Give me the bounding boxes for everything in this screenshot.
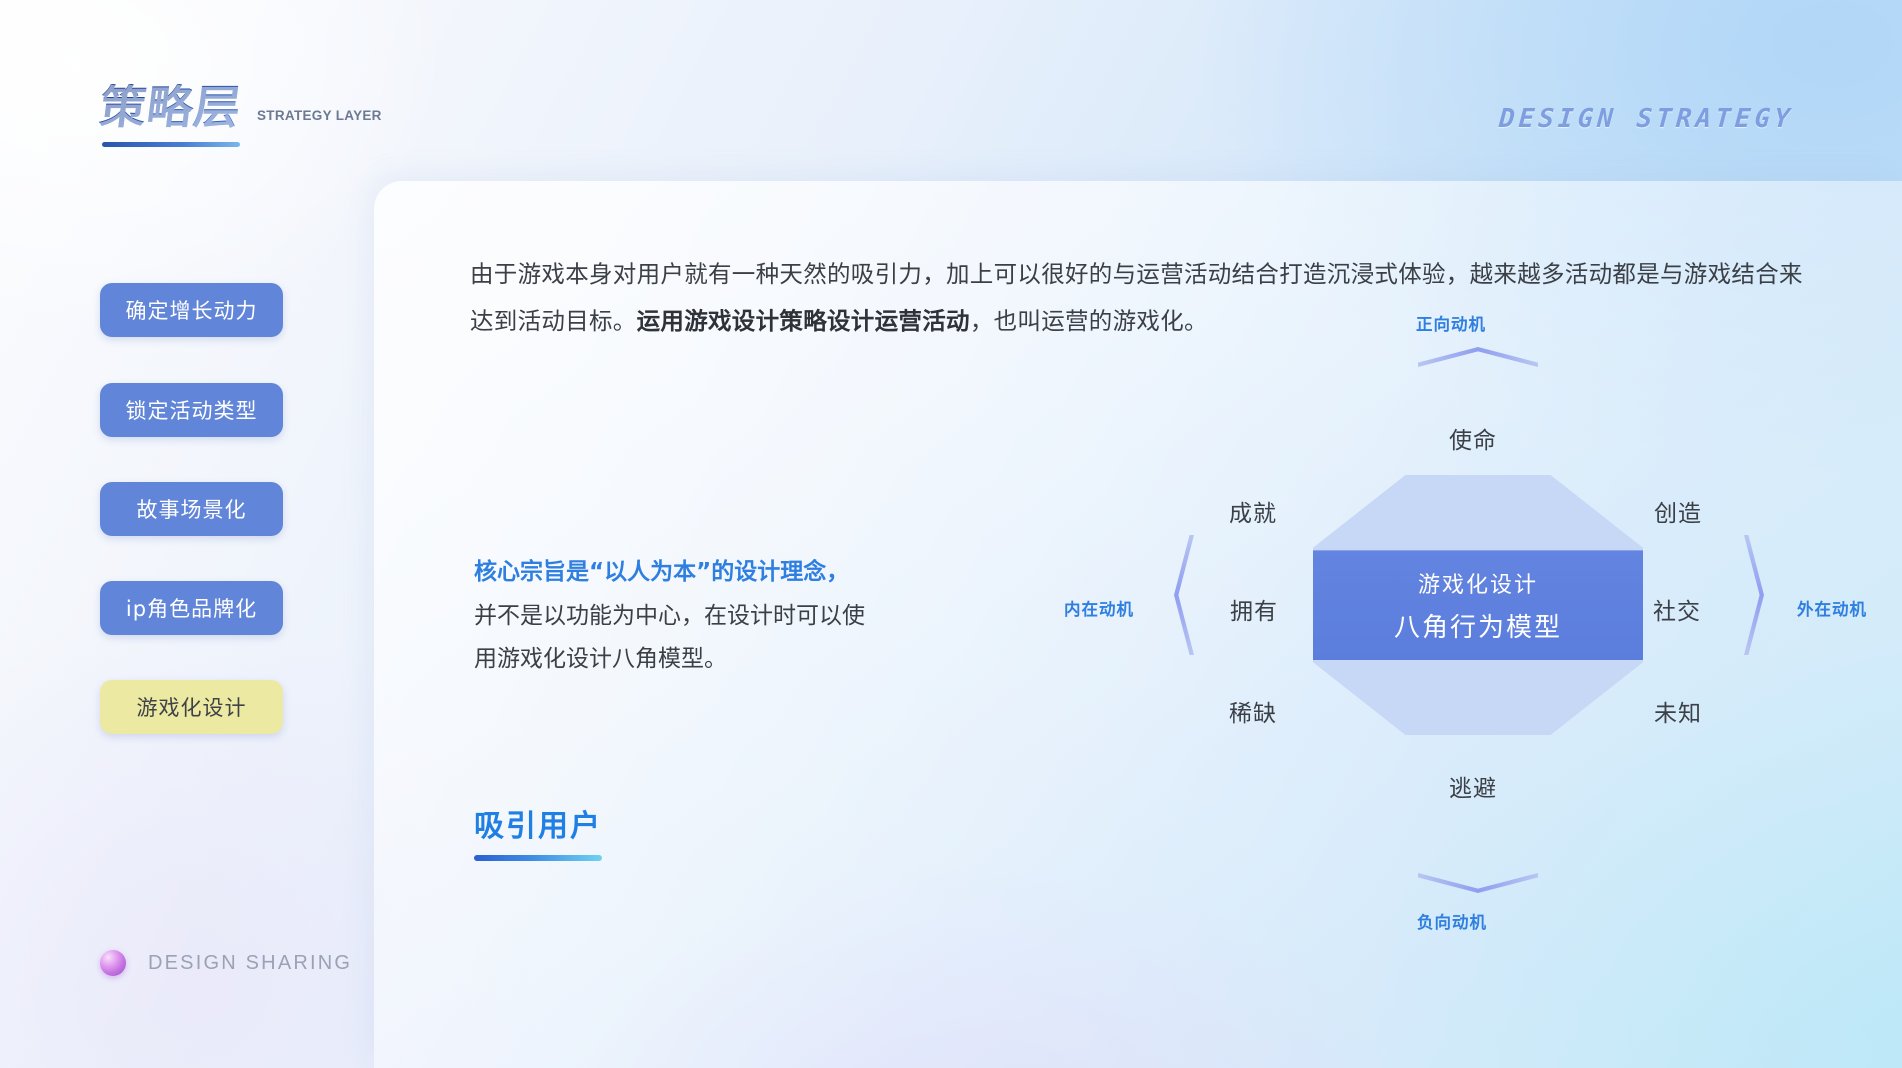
chevron-up-icon [1418, 347, 1538, 367]
logo-title-cn: 策略层 [97, 84, 244, 132]
node-scarcity: 稀缺 [1229, 694, 1277, 728]
page-header: 策略层 STRATEGY LAYER DESIGN STRATEGY [0, 0, 1902, 180]
node-unknown: 未知 [1654, 694, 1702, 728]
sidebar-item-label: 游戏化设计 [137, 692, 247, 722]
lead-paragraph: 核心宗旨是“以人为本”的设计理念， 并不是以功能为中心，在设计时可以使 用游戏化… [474, 551, 994, 682]
chevron-left-icon [1174, 535, 1194, 655]
content-card: 由于游戏本身对用户就有一种天然的吸引力，加上可以很好的与运营活动结合打造沉浸式体… [374, 181, 1902, 1068]
node-ownership: 拥有 [1230, 592, 1278, 626]
header-right-title: DESIGN STRATEGY [1498, 104, 1795, 134]
design-sharing-label: DESIGN SHARING [148, 952, 352, 975]
node-creation: 创造 [1654, 494, 1702, 528]
section-title: 吸引用户 [474, 801, 602, 845]
sidebar: 确定增长动力 锁定活动类型 故事场景化 ip角色品牌化 游戏化设计 DESIGN… [0, 180, 375, 1068]
sidebar-item-gamification[interactable]: 游戏化设计 [100, 680, 283, 734]
sidebar-item-story-scene[interactable]: 故事场景化 [100, 482, 283, 536]
node-avoidance: 逃避 [1449, 769, 1497, 803]
node-achievement: 成就 [1229, 494, 1277, 528]
sidebar-item-label: 锁定活动类型 [126, 395, 258, 425]
intro-text-bold: 运用游戏设计策略设计运营活动 [637, 307, 970, 335]
axis-label-positive: 正向动机 [1416, 311, 1486, 335]
logo-subtitle-en: STRATEGY LAYER [257, 108, 382, 132]
axis-label-intrinsic: 内在动机 [1064, 596, 1134, 620]
lead-line-2: 并不是以功能为中心，在设计时可以使 [474, 595, 994, 639]
chevron-right-icon [1744, 535, 1764, 655]
center-label-line-1: 游戏化设计 [1418, 567, 1538, 599]
logo-underline [102, 142, 240, 147]
node-mission: 使命 [1449, 421, 1497, 455]
sphere-icon [100, 950, 126, 976]
lead-line-1: 核心宗旨是“以人为本”的设计理念， [474, 551, 994, 595]
sidebar-item-activity-type[interactable]: 锁定活动类型 [100, 383, 283, 437]
octagon-center-band: 游戏化设计 八角行为模型 [1313, 550, 1643, 660]
sidebar-item-label: 确定增长动力 [126, 295, 258, 325]
logo: 策略层 STRATEGY LAYER [100, 84, 382, 132]
octagon-behavior-model-diagram: 正向动机 负向动机 内在动机 外在动机 游戏化设计 八角行为模型 使命 成就 创… [1064, 311, 1864, 951]
sidebar-item-label: 故事场景化 [137, 494, 247, 524]
center-label-line-2: 八角行为模型 [1394, 607, 1562, 644]
chevron-down-icon [1418, 873, 1538, 893]
lead-line-3: 用游戏化设计八角模型。 [474, 638, 994, 682]
section-title-underline [474, 855, 602, 861]
sidebar-item-growth-driver[interactable]: 确定增长动力 [100, 283, 283, 337]
sidebar-item-label: ip角色品牌化 [126, 593, 257, 623]
axis-label-negative: 负向动机 [1417, 909, 1487, 933]
axis-label-extrinsic: 外在动机 [1797, 596, 1867, 620]
design-sharing-footer: DESIGN SHARING [100, 950, 352, 976]
section-heading: 吸引用户 [474, 801, 602, 861]
sidebar-item-ip-branding[interactable]: ip角色品牌化 [100, 581, 283, 635]
node-social: 社交 [1653, 592, 1701, 626]
